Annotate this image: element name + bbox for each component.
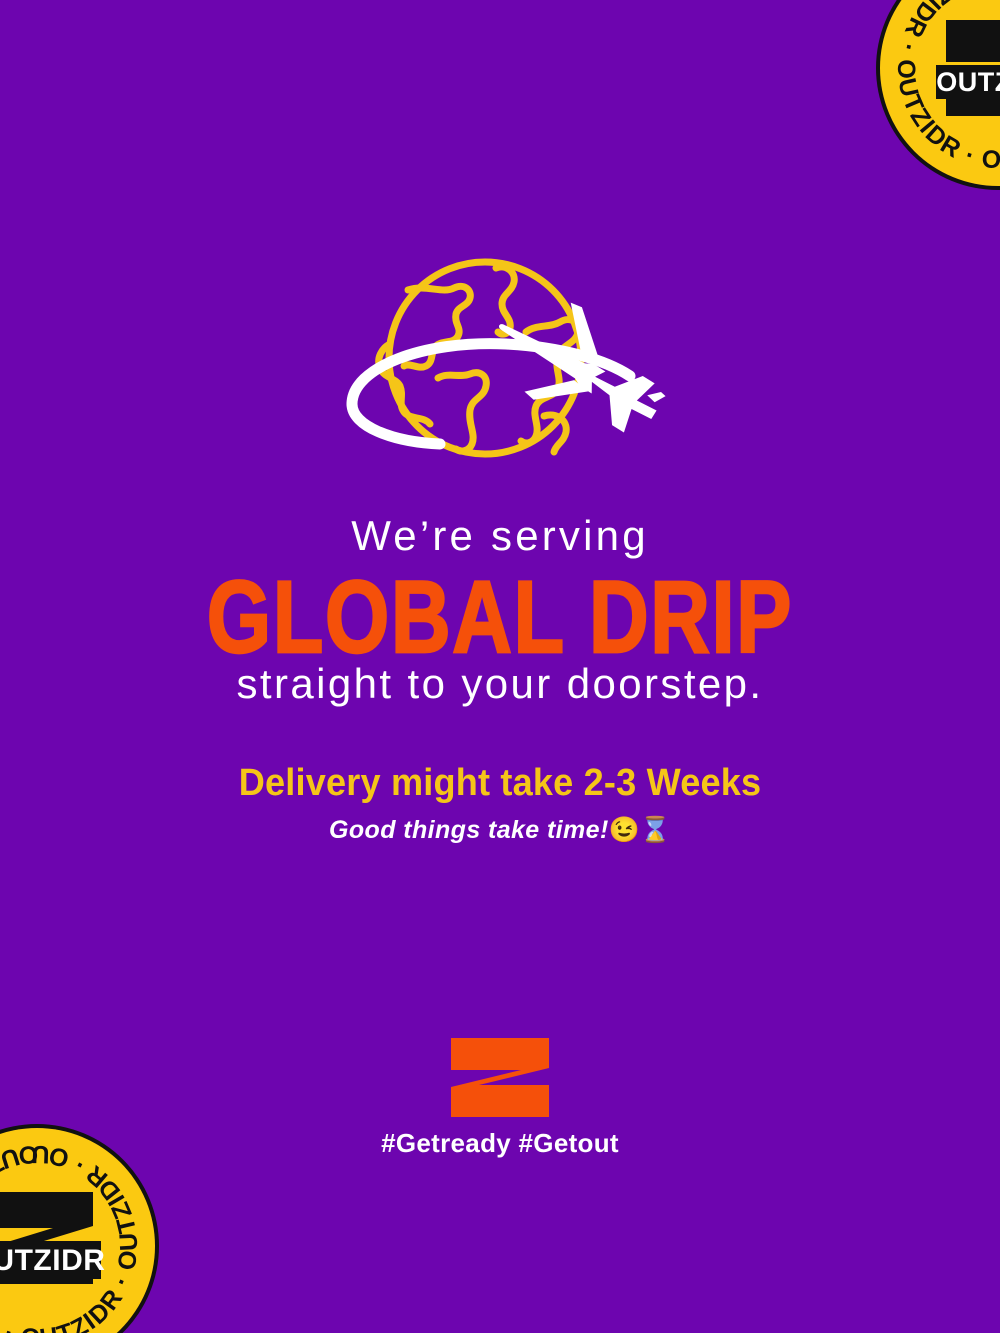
outzidr-seal-badge-top-right: OUTZIDR · OUTZIDR · OUTZIDR · OUTZIDR · … <box>872 0 1000 194</box>
delivery-notice: Delivery might take 2-3 Weeks <box>25 763 975 805</box>
promo-poster: We’re serving GLOBAL DRIP straight to yo… <box>0 0 1000 1333</box>
svg-text:OUTZIDR: OUTZIDR <box>936 67 1000 97</box>
page-title: GLOBAL DRIP <box>70 567 930 669</box>
headline-eyebrow: We’re serving <box>0 513 1000 559</box>
globe-with-airplane-icon <box>330 248 670 480</box>
delivery-subnote-emoji: 😉⌛ <box>609 816 671 844</box>
delivery-subnote: Good things take time!😉⌛ <box>0 815 1000 846</box>
delivery-subnote-text: Good things take time! <box>329 816 609 844</box>
outzidr-z-monogram-icon <box>449 1038 551 1119</box>
svg-text:OUTZIDR: OUTZIDR <box>0 1244 105 1277</box>
headline-tail: straight to your doorstep. <box>0 661 1000 707</box>
hashtags-text: #Getready #Getout <box>381 1128 619 1159</box>
outzidr-seal-badge-bottom-left: OUTZIDR · OUTZIDR · OUTZIDR · OUTZIDR · … <box>0 1120 163 1333</box>
